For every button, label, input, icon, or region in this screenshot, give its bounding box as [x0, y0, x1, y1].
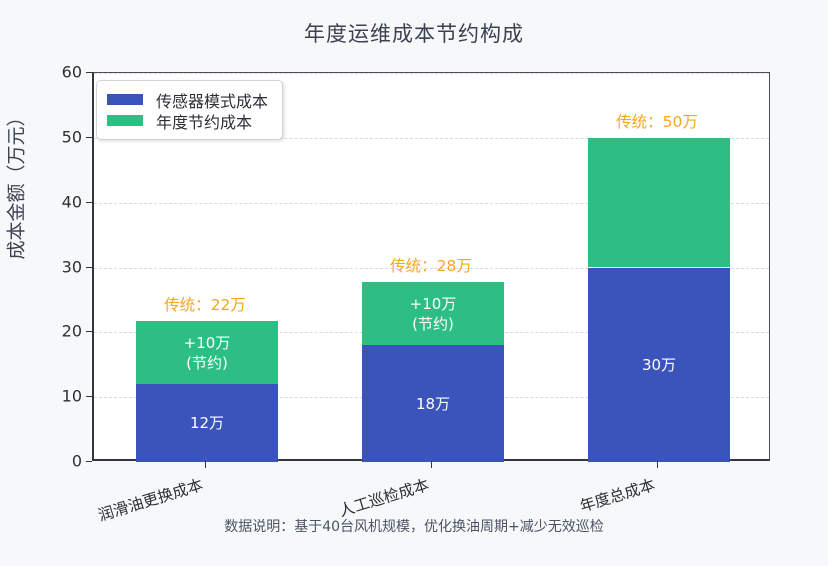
bar-segment[interactable]: +10万 (节约)	[136, 321, 278, 384]
bar-value-label: 30万	[588, 355, 730, 375]
chart-footnote: 数据说明：基于40台风机规模，优化换油周期+减少无效巡检	[0, 516, 828, 536]
y-tick-label: 20	[42, 322, 82, 341]
bar-annotation: 传统：50万	[616, 110, 698, 132]
bar-segment[interactable]: 18万	[362, 345, 504, 462]
legend-swatch-icon	[107, 115, 143, 126]
x-tick-mark	[431, 461, 432, 468]
y-tick-label: 30	[42, 257, 82, 276]
y-tick-label: 10	[42, 387, 82, 406]
x-tick-label: 人工巡检成本	[336, 473, 431, 521]
bar-value-label: +10万 (节约)	[362, 294, 504, 335]
bar-segment[interactable]	[588, 138, 730, 268]
bar-segment[interactable]: +10万 (节约)	[362, 282, 504, 346]
bar-value-label: 18万	[362, 394, 504, 414]
bar-segment[interactable]: 12万	[136, 384, 278, 462]
bar-segment[interactable]: 30万	[588, 268, 730, 463]
y-tick-label: 0	[42, 452, 82, 471]
y-tick-label: 40	[42, 192, 82, 211]
legend-item-label: 年度节约成本	[156, 109, 252, 133]
y-tick-mark	[86, 461, 92, 462]
legend-swatch-icon	[107, 94, 143, 105]
gridline	[94, 73, 769, 74]
bar-value-label: 12万	[136, 413, 278, 433]
y-tick-label: 60	[42, 63, 82, 82]
x-tick-mark	[205, 461, 206, 468]
legend-item[interactable]: 年度节约成本	[107, 110, 268, 131]
legend-item[interactable]: 传感器模式成本	[107, 89, 268, 110]
y-tick-label: 50	[42, 127, 82, 146]
chart-legend[interactable]: 传感器模式成本年度节约成本	[96, 80, 283, 140]
chart-title: 年度运维成本节约构成	[0, 18, 828, 48]
bar-annotation: 传统：22万	[164, 293, 246, 315]
y-axis-label: 成本金额（万元）	[2, 84, 29, 284]
bar-annotation: 传统：28万	[390, 254, 472, 276]
x-tick-label: 年度总成本	[577, 473, 658, 517]
bar-value-label: +10万 (节约)	[136, 333, 278, 374]
x-tick-mark	[657, 461, 658, 468]
